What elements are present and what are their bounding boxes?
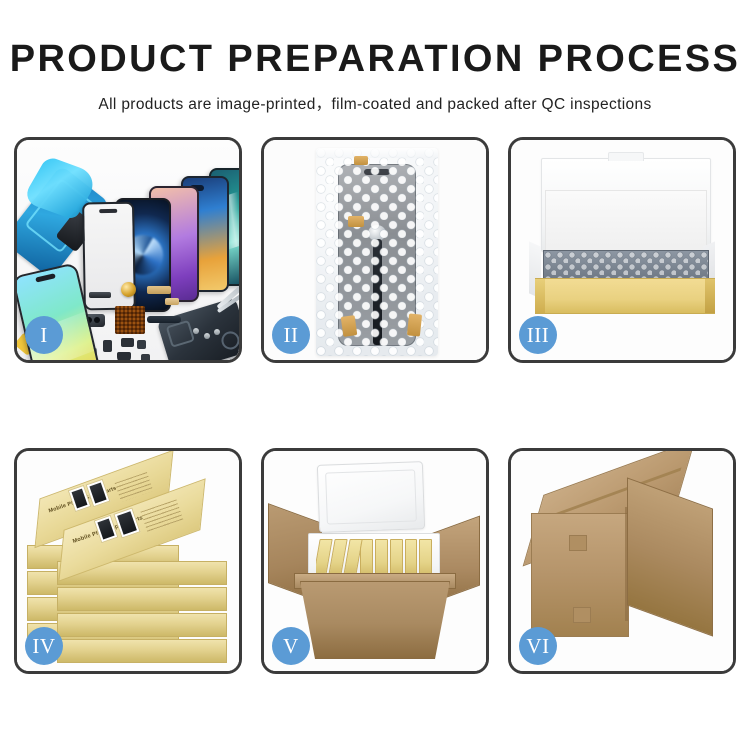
screws-icon [193, 328, 223, 344]
flex-cable-c-icon [147, 316, 181, 323]
process-step-4: Mobile Phone Spare Parts Mobile Phone Sp… [14, 448, 242, 674]
header: PRODUCT PREPARATION PROCESS All products… [0, 0, 750, 114]
bracket-part-icon [117, 352, 131, 363]
page-subtitle: All products are image-printed，film-coat… [0, 92, 750, 114]
battery-connector-icon [89, 292, 111, 298]
tape-d-icon [407, 313, 422, 336]
inner-box-front-panel-icon [535, 278, 715, 314]
bag-seal-icon [316, 148, 438, 158]
page-title: PRODUCT PREPARATION PROCESS [0, 40, 750, 78]
process-step-1: I [14, 137, 242, 363]
process-step-grid: I II [14, 137, 736, 674]
small-part-2-icon [137, 340, 146, 349]
speaker-part-icon [121, 282, 136, 297]
step-badge-3: III [519, 316, 557, 354]
tape-c-icon [341, 315, 358, 337]
carton-tab-lower-icon [573, 607, 591, 623]
box-layer-edge [57, 613, 227, 637]
flex-cable-b-icon [165, 298, 179, 305]
process-step-6: VI [508, 448, 736, 674]
step-badge-6: VI [519, 627, 557, 665]
small-part-3-icon [103, 340, 112, 352]
carton-body-icon [300, 581, 450, 659]
box-layer-edge [57, 587, 227, 611]
tape-a-icon [354, 156, 368, 165]
step-badge-2: II [272, 316, 310, 354]
process-step-2: II [261, 137, 489, 363]
foam-box-lid-icon [317, 461, 425, 533]
step-badge-1: I [25, 316, 63, 354]
step-badge-4: IV [25, 627, 63, 665]
process-step-5: V [261, 448, 489, 674]
screw-tray-icon [115, 306, 145, 334]
process-step-3: III [508, 137, 736, 363]
carton-tab-upper-icon [569, 535, 587, 551]
small-part-4-icon [141, 354, 150, 363]
step-badge-5: V [272, 627, 310, 665]
bubble-wrap-bag-icon [316, 148, 438, 356]
flex-cable-a-icon [147, 286, 171, 294]
tape-b-icon [348, 216, 364, 227]
box-layer-edge [57, 639, 227, 663]
small-part-1-icon [121, 338, 134, 347]
sealed-carton-edge-icon [625, 507, 628, 621]
inner-box-back-wall-icon [545, 190, 707, 254]
